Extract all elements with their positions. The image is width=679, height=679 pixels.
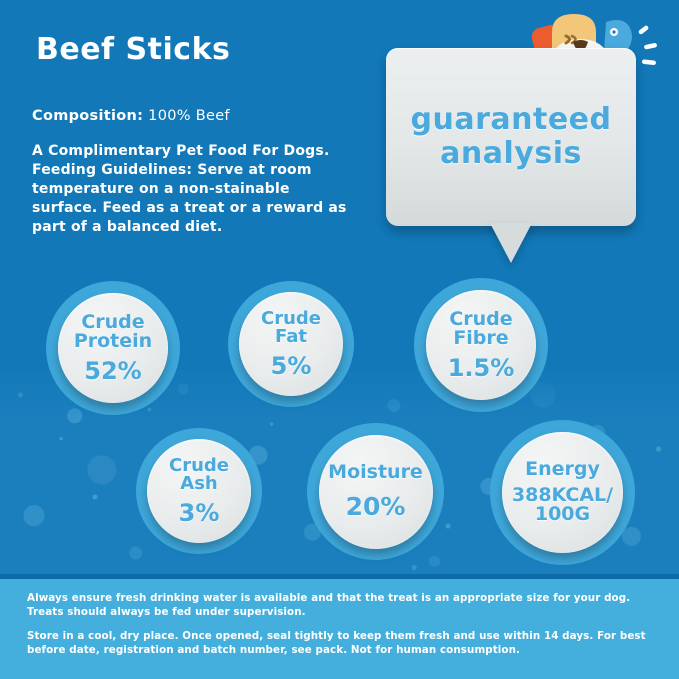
nutrient-name-line2: Fibre xyxy=(449,329,512,348)
footer-copy: Always ensure fresh drinking water is av… xyxy=(27,592,657,657)
nutrient-badge-crude-fat: Crude Fat 5% xyxy=(228,281,354,407)
nutrient-badge-crude-protein: Crude Protein 52% xyxy=(46,281,180,415)
nutrient-name-line2: Fat xyxy=(261,328,321,346)
composition-line: Composition: 100% Beef xyxy=(32,108,230,124)
nutrient-badge-crude-ash: Crude Ash 3% xyxy=(136,428,262,554)
footer-paragraph-1: Always ensure fresh drinking water is av… xyxy=(27,592,657,619)
bubble-line-2: analysis xyxy=(386,137,636,171)
composition-value: 100% Beef xyxy=(148,108,230,124)
nutrient-value: 5% xyxy=(271,354,312,378)
bubble-tail xyxy=(490,223,532,263)
nutrient-badge-energy: Energy 388KCAL/ 100G xyxy=(490,420,635,565)
product-description: A Complimentary Pet Food For Dogs. Feedi… xyxy=(32,142,348,237)
nutrient-name-line1: Energy xyxy=(525,460,600,479)
nutrient-value: 1.5% xyxy=(448,356,515,380)
nutrient-value: 388KCAL/ 100G xyxy=(512,486,613,525)
bubble-text: guaranteed analysis xyxy=(386,103,636,171)
nutrient-name-line2: Protein xyxy=(74,332,152,351)
bubble-line-1: guaranteed xyxy=(386,103,636,137)
packaging-infographic: Beef Sticks Composition: 100% Beef A Com… xyxy=(0,0,679,679)
nutrient-name: Crude Ash xyxy=(169,457,229,494)
nutrient-name-line1: Moisture xyxy=(328,463,423,482)
nutrient-name: Moisture xyxy=(328,463,423,482)
nutrient-badge-crude-fibre: Crude Fibre 1.5% xyxy=(414,278,548,412)
nutrient-name: Crude Fibre xyxy=(449,310,512,349)
nutrient-name: Crude Protein xyxy=(74,313,152,352)
nutrient-value: 3% xyxy=(179,501,220,525)
footer-paragraph-2: Store in a cool, dry place. Once opened,… xyxy=(27,630,657,657)
guaranteed-analysis-bubble: guaranteed analysis xyxy=(386,48,636,263)
nutrient-value: 20% xyxy=(346,494,406,520)
nutrient-name-line2: Ash xyxy=(169,475,229,493)
nutrient-name: Crude Fat xyxy=(261,310,321,347)
nutrient-badge-moisture: Moisture 20% xyxy=(307,423,444,560)
nutrient-name: Energy xyxy=(525,460,600,479)
composition-label: Composition: xyxy=(32,108,143,124)
nutrient-value: 52% xyxy=(84,359,141,383)
page-title: Beef Sticks xyxy=(36,32,230,67)
